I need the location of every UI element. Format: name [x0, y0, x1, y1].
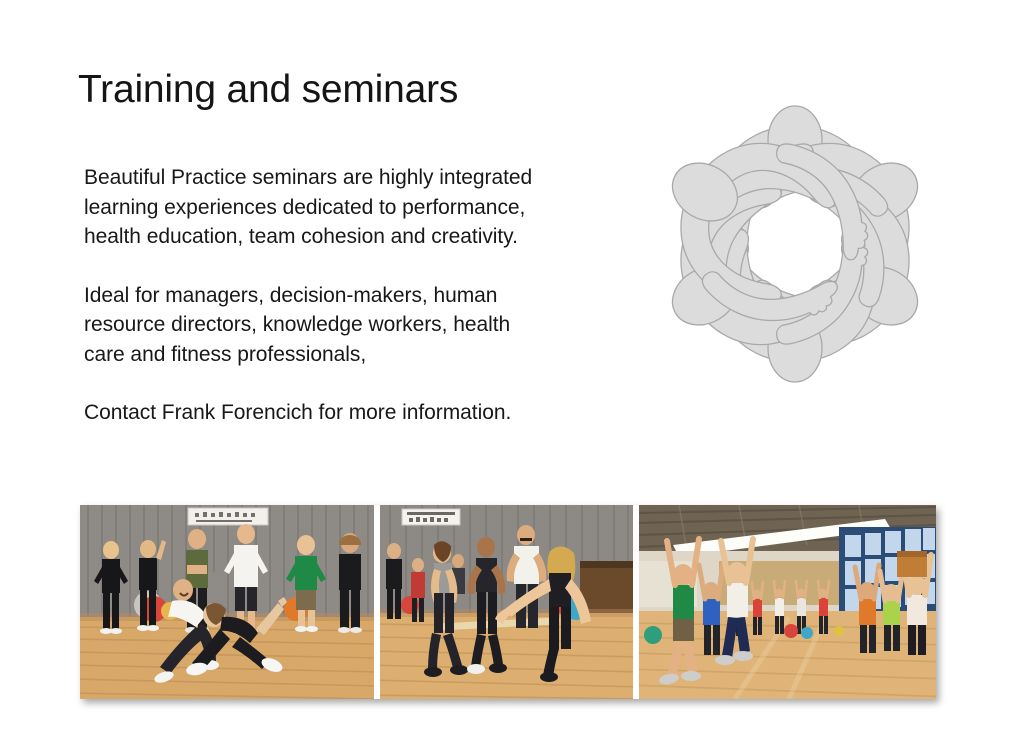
figure-mandala-graphic — [630, 72, 960, 422]
body-copy: Beautiful Practice seminars are highly i… — [84, 163, 604, 428]
body-paragraph-3: Contact Frank Forencich for more informa… — [84, 398, 604, 428]
photo-partner-exercise-workshop: Workshop group in a studio watching two … — [80, 505, 374, 699]
photo-group-stick-drill: Smiling participants moving together whi… — [380, 505, 633, 699]
photo-large-class-arms-raised: Large fitness class jumping with arms ra… — [639, 505, 936, 699]
page-title: Training and seminars — [78, 68, 458, 112]
photo-strip: Workshop group in a studio watching two … — [80, 505, 936, 699]
body-paragraph-1: Beautiful Practice seminars are highly i… — [84, 163, 604, 252]
body-paragraph-2: Ideal for managers, decision-makers, hum… — [84, 281, 604, 370]
presentation-slide: Training and seminars Beautiful Practice… — [0, 0, 1024, 748]
